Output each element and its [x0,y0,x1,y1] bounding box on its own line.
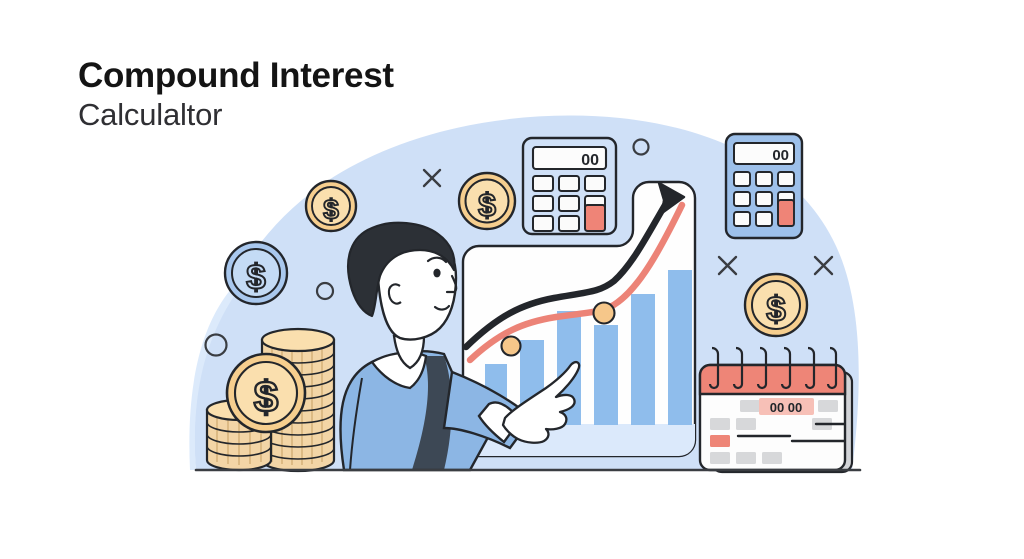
coin-gold-upper-mid: $ [459,173,515,229]
page-title: Compound Interest Calculaltor [78,56,394,134]
title-line-2: Calculaltor [78,96,394,134]
marker-dot-2 [594,303,615,324]
coin-gold-right: $ [745,274,807,336]
eye [433,269,440,278]
bar-4 [594,325,618,425]
coin-blue-left: $ [225,242,287,304]
coin-gold-stack-front: $ [227,354,305,432]
marker-dot-1 [502,337,521,356]
coin-gold-small-left: $ [306,181,356,231]
bar-5 [631,294,655,425]
bar-6 [668,270,692,425]
dollar-icon: $ [766,290,785,329]
dollar-icon: $ [323,194,339,225]
illustration-canvas: 00 00 [0,0,1024,559]
calculator-left-equals-key [585,205,605,231]
calendar[interactable]: 00 00 [700,348,852,472]
calculator-left-display-value: 00 [581,152,599,169]
dollar-icon: $ [246,258,265,297]
calculator-right-equals-key [778,200,794,226]
dollar-icon: $ [254,373,278,422]
dollar-icon: $ [478,187,496,223]
calculator-left[interactable]: 00 [523,138,616,234]
calendar-today-cell [710,435,730,447]
calculator-right-display-value: 00 [772,147,789,164]
calculator-right[interactable]: 00 [726,134,802,238]
title-line-1: Compound Interest [78,56,394,96]
calendar-header [700,365,845,394]
calendar-highlight-value: 00 00 [770,400,803,415]
